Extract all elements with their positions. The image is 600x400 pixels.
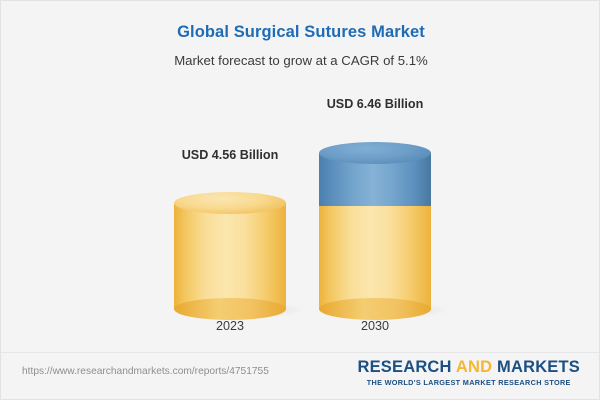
research-and-markets-logo[interactable]: RESEARCH AND MARKETS THE WORLD'S LARGEST… <box>357 359 580 387</box>
bar-group-2023: USD 4.56 Billion 2023 <box>150 79 310 334</box>
source-url[interactable]: https://www.researchandmarkets.com/repor… <box>22 366 269 377</box>
bar-cap-top-2023 <box>174 192 286 214</box>
bar-value-label-2023: USD 4.56 Billion <box>150 148 310 162</box>
footer-divider <box>1 352 600 353</box>
bar-segment-base-2023 <box>174 203 286 309</box>
chart-subtitle: Market forecast to grow at a CAGR of 5.1… <box>1 53 600 68</box>
logo-wordmark: RESEARCH AND MARKETS <box>357 359 580 376</box>
bar-body-base-2030 <box>319 203 431 309</box>
chart-title: Global Surgical Sutures Market <box>1 23 600 42</box>
chart-card: Global Surgical Sutures Market Market fo… <box>0 0 600 400</box>
bar-cap-bottom-2023 <box>174 298 286 320</box>
bar-body-base-2023 <box>174 203 286 309</box>
category-label-2023: 2023 <box>150 319 310 333</box>
bar-cap-bottom-2030 <box>319 298 431 320</box>
plot-area: USD 4.56 Billion 2023 USD 6.46 Billion <box>1 79 600 334</box>
logo-tagline: THE WORLD'S LARGEST MARKET RESEARCH STOR… <box>357 378 580 387</box>
category-label-2030: 2030 <box>295 319 455 333</box>
bar-segment-growth-2030 <box>319 153 431 206</box>
bar-cylinder-2030[interactable] <box>319 153 431 309</box>
bar-cylinder-2023[interactable] <box>174 203 286 309</box>
bar-group-2030: USD 6.46 Billion 2030 <box>295 79 455 334</box>
bar-segment-base-2030 <box>319 203 431 309</box>
bar-cap-top-2030 <box>319 142 431 164</box>
logo-word-research: RESEARCH <box>357 358 451 376</box>
logo-word-markets: MARKETS <box>497 358 580 376</box>
logo-word-and: AND <box>456 358 492 376</box>
bar-value-label-2030: USD 6.46 Billion <box>295 97 455 111</box>
